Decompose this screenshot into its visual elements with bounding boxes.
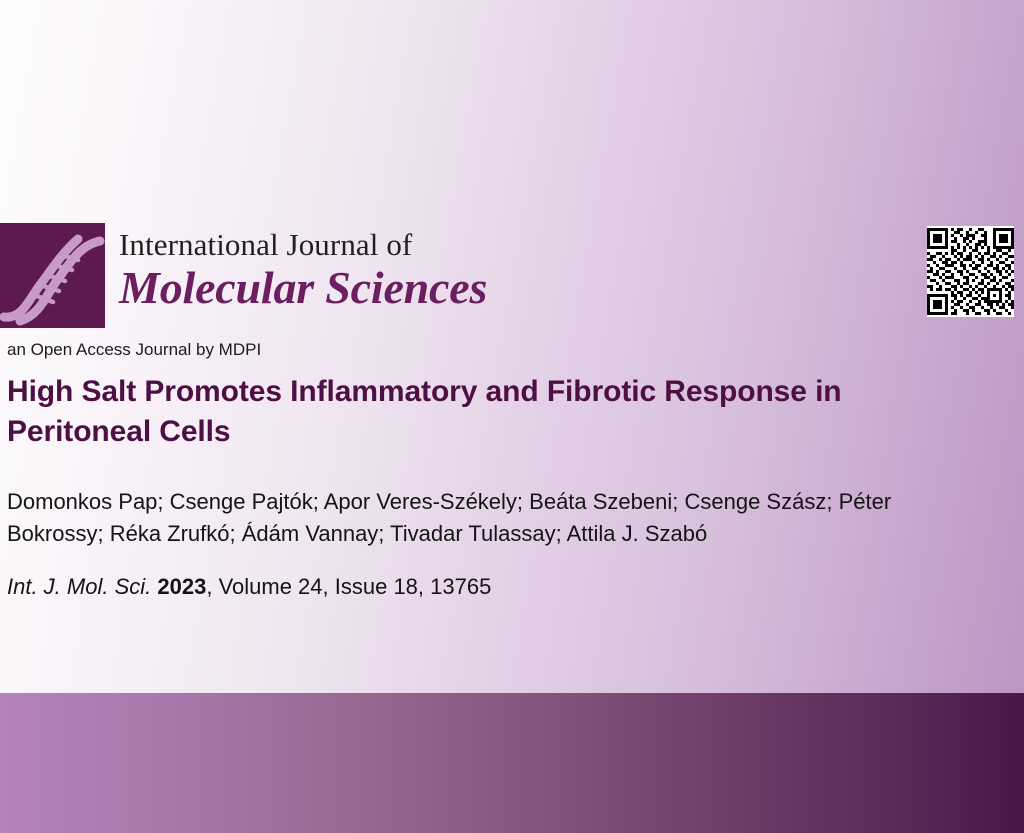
citation-line: Int. J. Mol. Sci. 2023, Volume 24, Issue… — [7, 574, 491, 600]
citation-volume-issue: , Volume 24, Issue 18, 13765 — [206, 574, 491, 599]
dna-helix-icon — [0, 223, 105, 328]
open-access-tagline: an Open Access Journal by MDPI — [7, 340, 261, 360]
article-title[interactable]: High Salt Promotes Inflammatory and Fibr… — [7, 372, 992, 452]
bottom-color-band — [0, 693, 1024, 833]
journal-name-line1: International Journal of — [119, 229, 487, 260]
journal-name-line2: Molecular Sciences — [119, 265, 487, 311]
author-list: Domonkos Pap; Csenge Pajtók; Apor Veres-… — [7, 486, 937, 551]
journal-logo[interactable]: International Journal of Molecular Scien… — [0, 223, 487, 328]
citation-journal-abbrev: Int. J. Mol. Sci. — [7, 574, 151, 599]
qr-code[interactable] — [927, 226, 1014, 317]
citation-year: 2023 — [157, 574, 206, 599]
journal-wordmark: International Journal of Molecular Scien… — [119, 223, 487, 311]
journal-promo-card: International Journal of Molecular Scien… — [0, 0, 1024, 833]
